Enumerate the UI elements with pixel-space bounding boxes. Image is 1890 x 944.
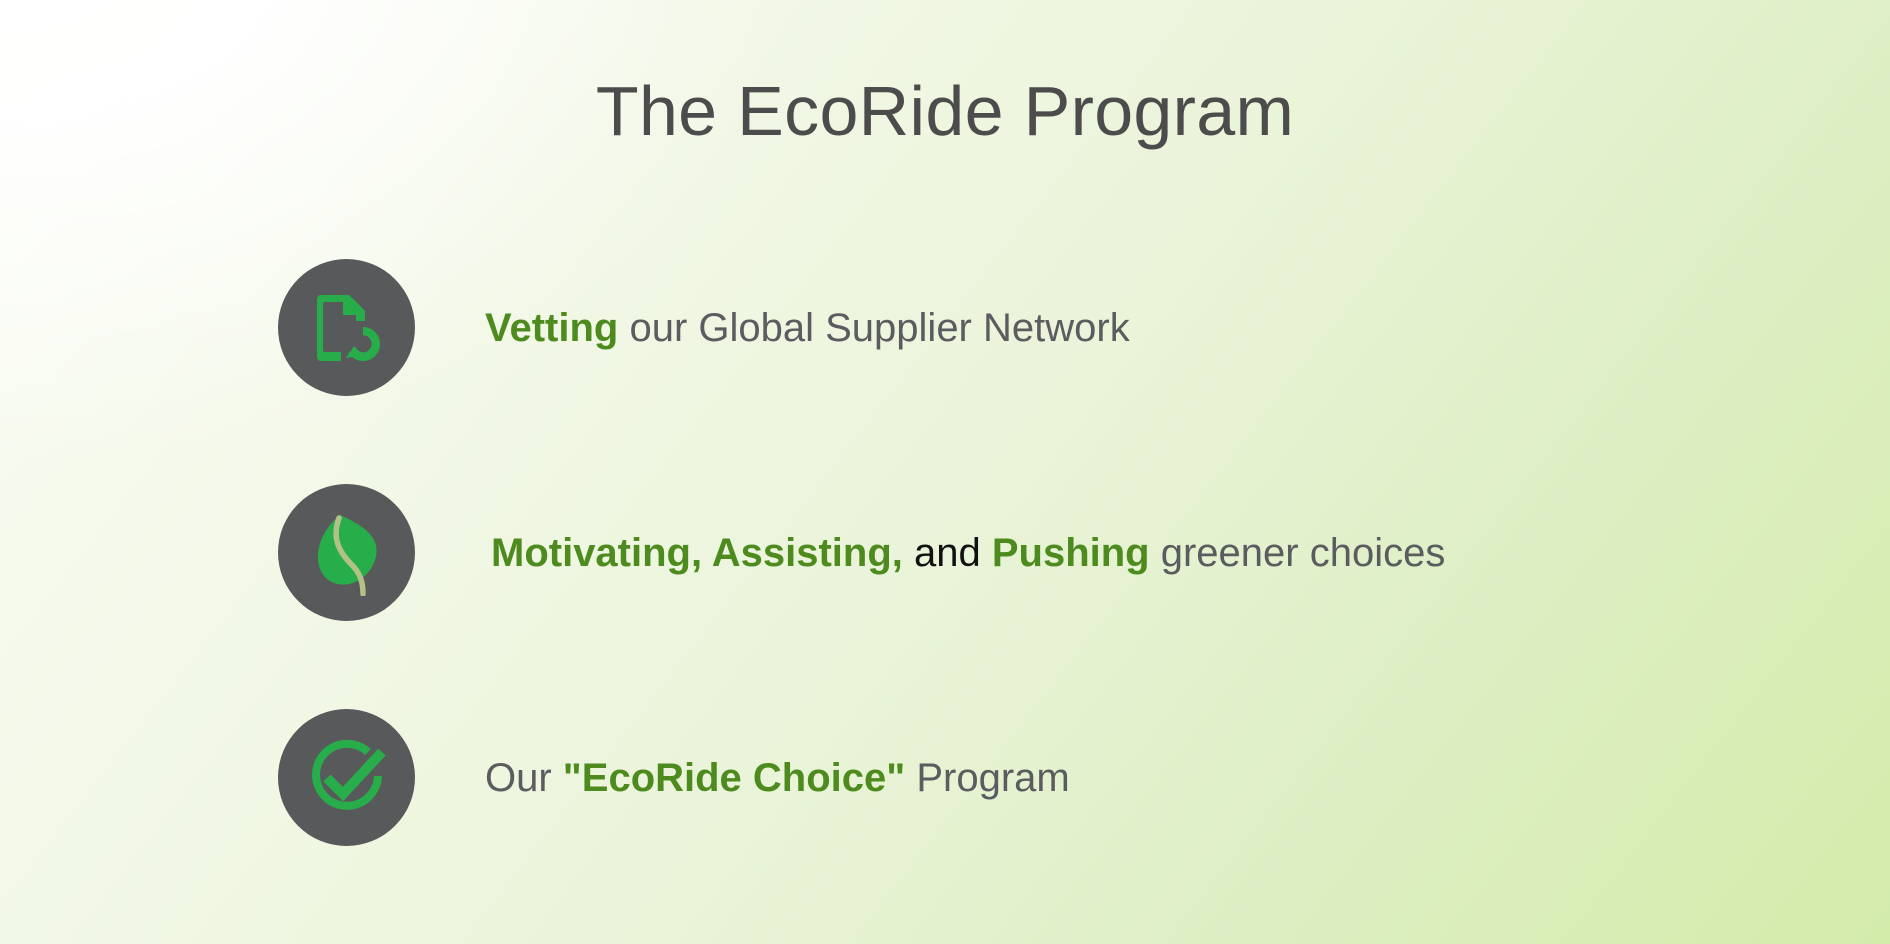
list-item-label: Motivating, Assisting, and Pushing green… [491, 530, 1838, 576]
segment-plain: Program [905, 756, 1070, 800]
segment-highlight: Motivating, Assisting, [491, 531, 903, 575]
leaf-icon [307, 510, 387, 596]
check-circle-icon [304, 735, 390, 821]
document-sync-icon [308, 289, 386, 367]
list-item: Our "EcoRide Choice" Program [278, 709, 1838, 846]
segment-plain: greener choices [1150, 531, 1446, 575]
list-item: Motivating, Assisting, and Pushing green… [278, 484, 1838, 621]
slide-canvas: The EcoRide Program V [0, 0, 1890, 944]
segment-plain: our Global Supplier Network [618, 306, 1129, 350]
segment-highlight: Vetting [485, 306, 618, 350]
icon-badge [278, 709, 415, 846]
segment-plain: Our [485, 756, 563, 800]
page-title: The EcoRide Program [0, 76, 1890, 146]
bullet-list: Vetting our Global Supplier Network Moti… [278, 259, 1838, 846]
segment-emphasis: and [903, 531, 992, 575]
list-item-label: Vetting our Global Supplier Network [485, 305, 1838, 351]
icon-badge [278, 484, 415, 621]
segment-highlight: "EcoRide Choice" [563, 756, 905, 800]
list-item-label: Our "EcoRide Choice" Program [485, 755, 1838, 801]
segment-highlight: Pushing [992, 531, 1150, 575]
list-item: Vetting our Global Supplier Network [278, 259, 1838, 396]
icon-badge [278, 259, 415, 396]
